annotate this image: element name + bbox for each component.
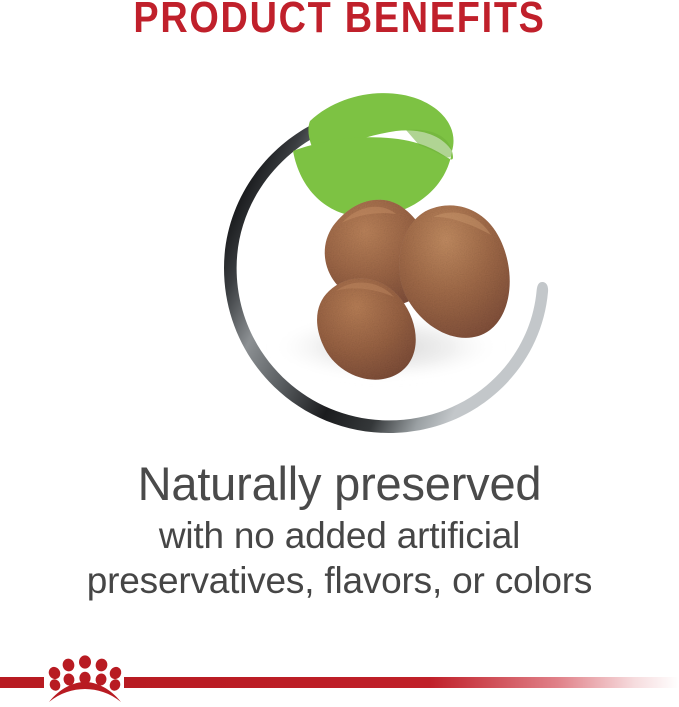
leaf-icon — [293, 93, 454, 217]
benefit-subline-1: with no added artificial — [0, 513, 679, 558]
brand-bar-left — [0, 677, 44, 688]
benefit-headline: Naturally preserved — [0, 455, 679, 513]
benefit-copy: Naturally preserved with no added artifi… — [0, 455, 679, 603]
page-title: PRODUCT BENEFITS — [48, 0, 632, 43]
brand-footer — [0, 650, 679, 707]
brand-bar-right — [124, 677, 679, 688]
royal-canin-crown-logo — [44, 652, 126, 705]
natural-kibble-badge — [190, 85, 590, 445]
product-benefits-panel: PRODUCT BENEFITS — [0, 0, 679, 707]
benefit-subline-2: preservatives, flavors, or colors — [0, 558, 679, 603]
